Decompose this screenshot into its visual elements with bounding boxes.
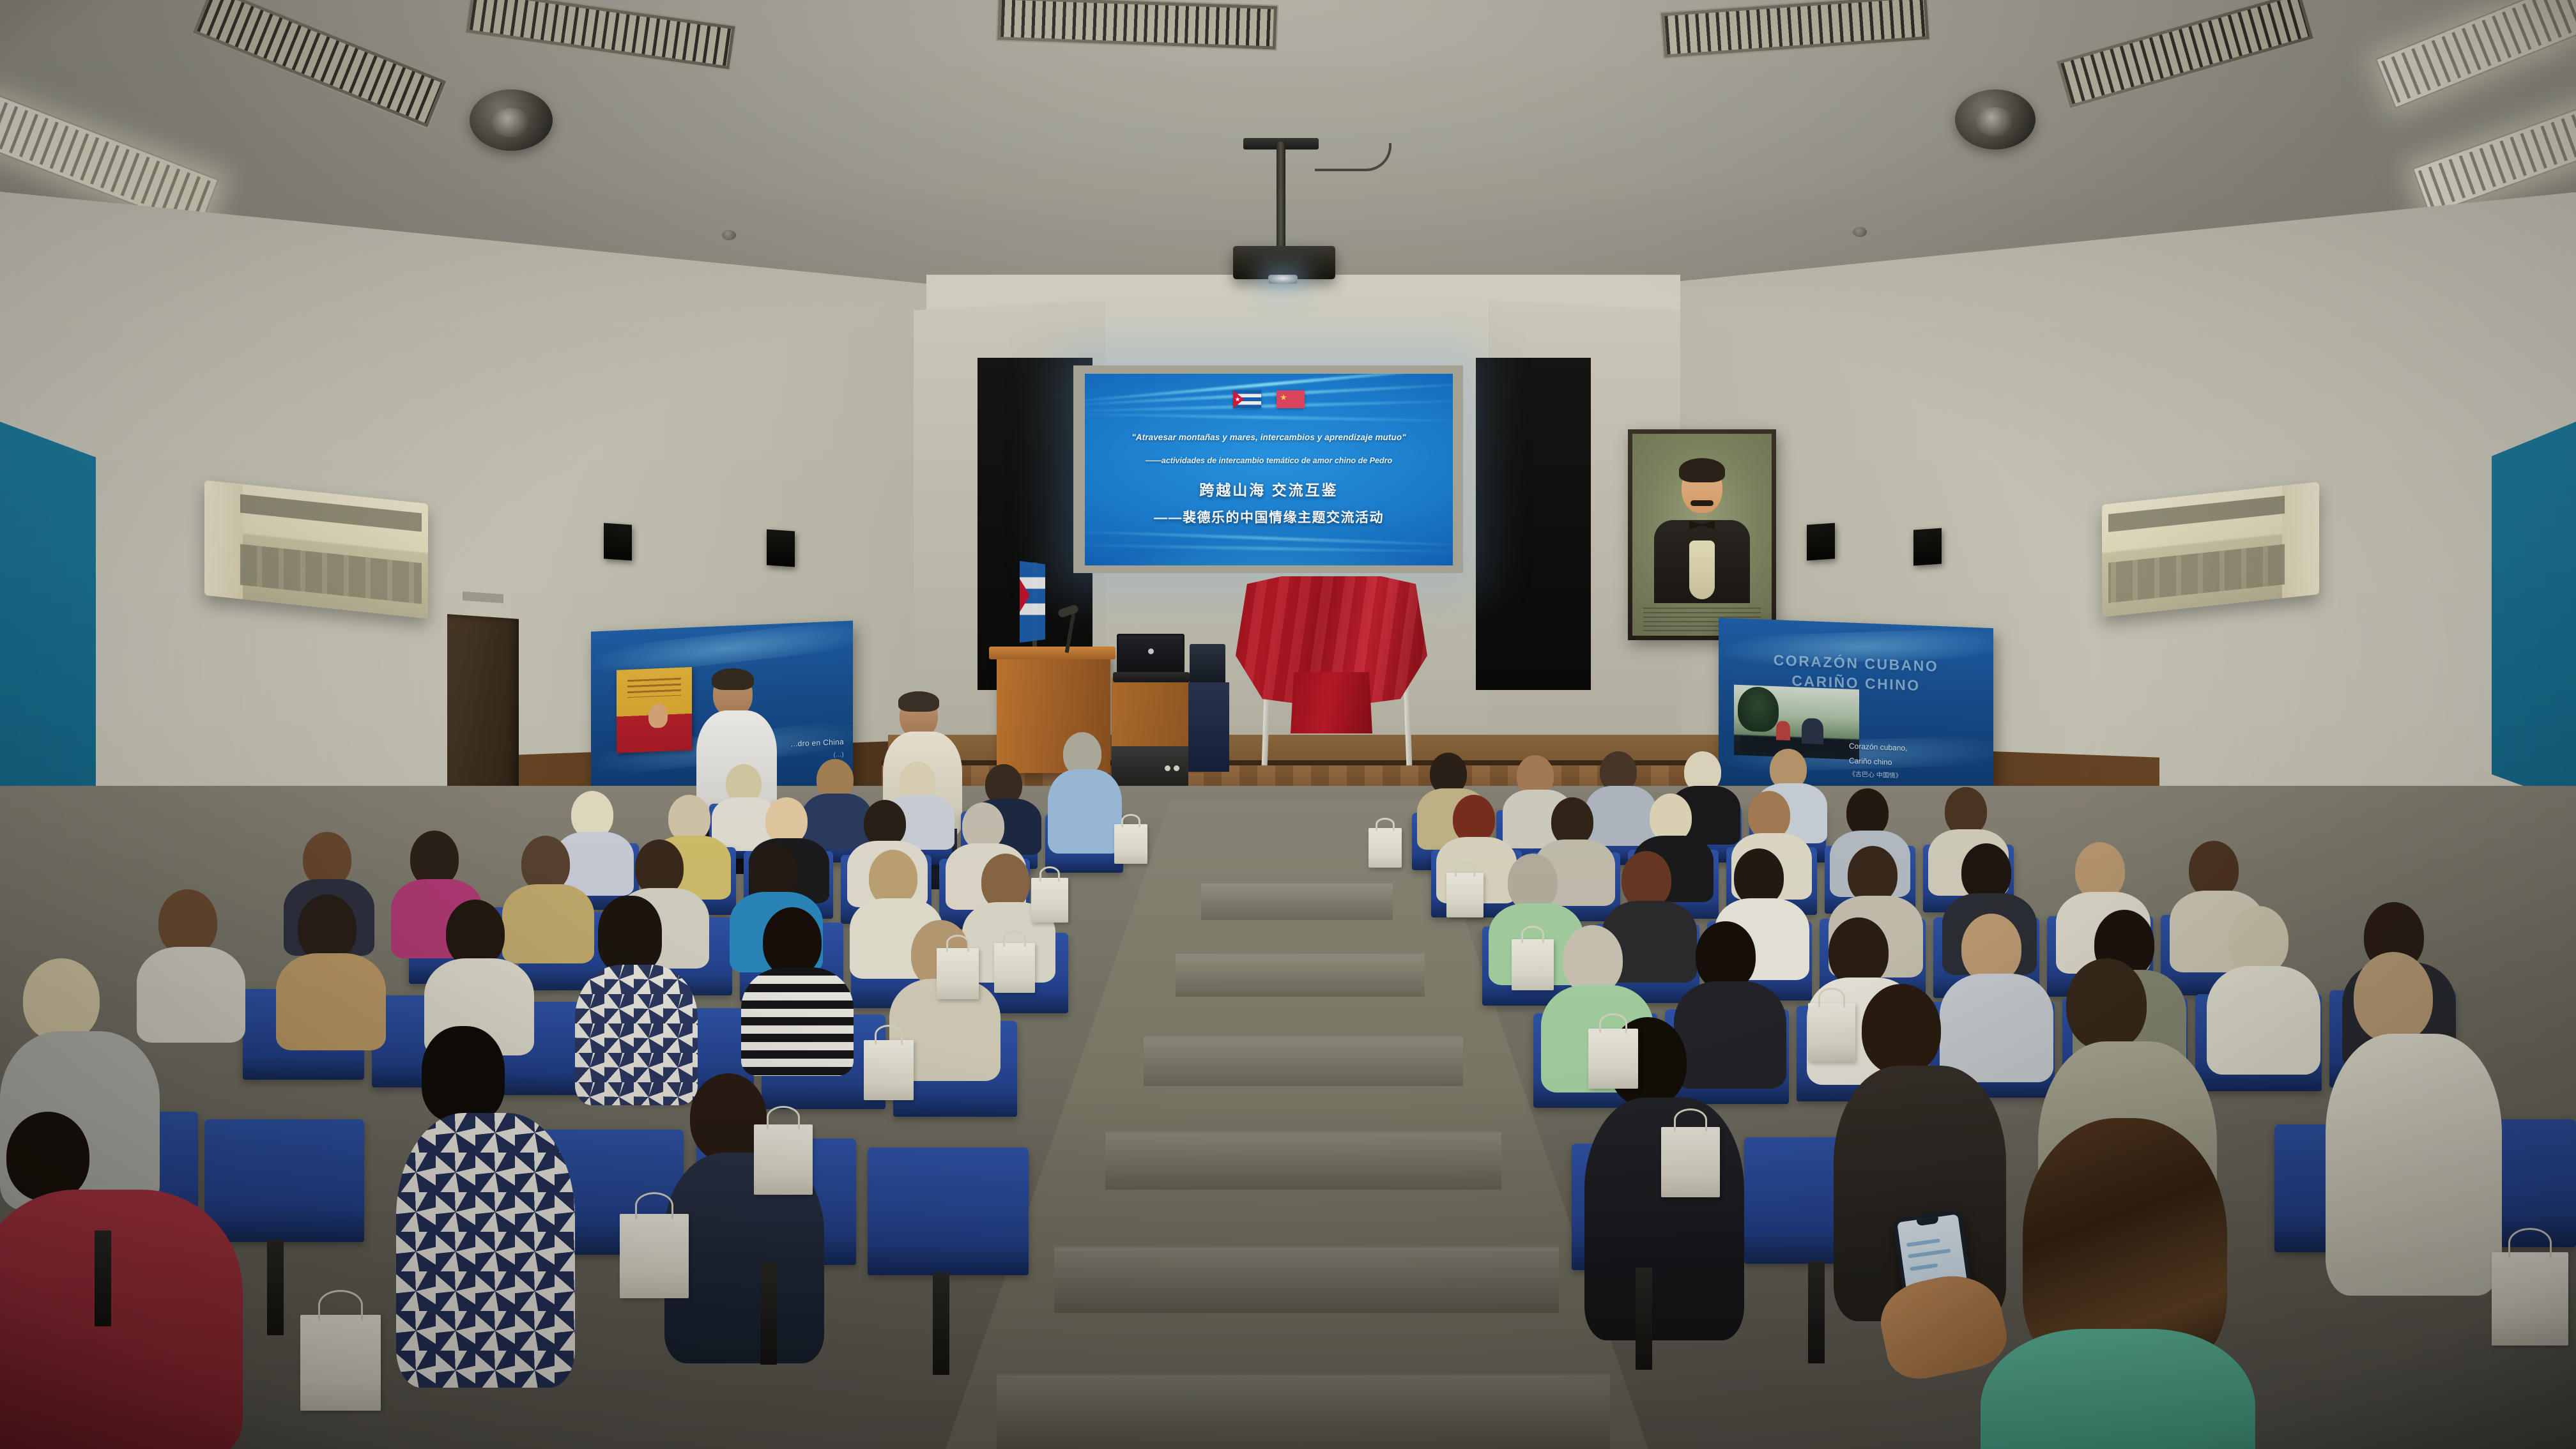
wall-accent-panel-left	[0, 422, 96, 818]
wall-speaker	[604, 523, 632, 560]
auditorium-seat[interactable]	[868, 1147, 1029, 1275]
gift-tote-bag[interactable]	[620, 1214, 689, 1298]
gift-tote-bag[interactable]	[1368, 828, 1402, 868]
wall-accent-panel-right	[2492, 422, 2576, 805]
presentation-laptop[interactable]	[1117, 634, 1184, 673]
seat-leg	[1636, 1268, 1652, 1370]
sprinkler-head-icon	[1853, 227, 1867, 237]
wall-speaker	[1807, 523, 1835, 560]
screen-chinese-title: 跨越山海 交流互鉴	[1099, 478, 1439, 500]
drape-skirt	[1291, 672, 1372, 733]
side-exit-door[interactable]	[447, 614, 519, 811]
auditorium-photo: "Atravesar montañas y mares, intercambio…	[0, 0, 2576, 1449]
portrait-frame	[1628, 429, 1776, 640]
aisle-step	[1054, 1246, 1559, 1313]
aisle-step	[1176, 952, 1425, 997]
auditorium-seat[interactable]	[204, 1119, 364, 1242]
screen-spanish-subtitle: ——actividades de intercambio temático de…	[1099, 456, 1439, 465]
aisle-step	[1201, 882, 1393, 920]
gift-tote-bag[interactable]	[1031, 878, 1068, 923]
seat-leg	[1808, 1261, 1825, 1363]
air-conditioner-unit	[2102, 482, 2319, 617]
screen-text-block: "Atravesar montañas y mares, intercambio…	[1085, 433, 1453, 526]
gift-tote-bag[interactable]	[994, 943, 1035, 993]
air-conditioner-unit	[204, 480, 428, 619]
confidence-monitor	[1190, 644, 1225, 684]
cuba-flag-icon	[1233, 390, 1261, 408]
banner-right-captions: Corazón cubano, Cariño chino 《古巴心 中国情》	[1849, 739, 1983, 786]
aisle-step	[997, 1374, 1610, 1449]
gift-tote-bag[interactable]	[937, 948, 979, 999]
seat-leg	[760, 1262, 777, 1365]
gift-tote-bag[interactable]	[2492, 1252, 2568, 1345]
jose-marti-portrait	[1632, 434, 1772, 636]
gift-tote-bag[interactable]	[1446, 873, 1483, 917]
screen-spanish-quote: "Atravesar montañas y mares, intercambio…	[1099, 433, 1439, 442]
stage-chair	[1188, 682, 1229, 772]
screen-chinese-subtitle: ——裴德乐的中国情缘主题交流活动	[1099, 507, 1439, 526]
sprinkler-head-icon	[722, 230, 736, 240]
gift-tote-bag[interactable]	[1808, 1003, 1855, 1062]
projector-lens-icon	[1268, 275, 1298, 284]
seat-leg	[933, 1273, 949, 1375]
book-cover-photo	[617, 667, 692, 753]
gift-tote-bag[interactable]	[1114, 824, 1147, 864]
podium-top	[989, 647, 1115, 659]
seat-leg	[267, 1239, 284, 1335]
seat-leg	[95, 1230, 111, 1326]
gift-tote-bag[interactable]	[754, 1124, 813, 1195]
projection-screen: "Atravesar montañas y mares, intercambio…	[1085, 374, 1453, 565]
ceiling-dome-speaker	[1955, 89, 2035, 149]
wall-speaker	[1913, 528, 1942, 565]
screen-flag-row	[1085, 390, 1453, 408]
gift-tote-bag[interactable]	[1588, 1029, 1638, 1089]
stage-drape-right	[1476, 358, 1591, 690]
china-flag-icon	[1276, 390, 1305, 408]
gift-tote-bag[interactable]	[1512, 939, 1554, 990]
banner-right-photo	[1734, 685, 1859, 760]
ceiling-dome-speaker	[470, 89, 553, 151]
cuba-flag-on-pole	[1020, 561, 1045, 643]
projector-pole	[1276, 142, 1285, 250]
aisle-step	[1144, 1035, 1463, 1086]
gift-tote-bag[interactable]	[300, 1315, 381, 1411]
wall-speaker	[767, 529, 795, 567]
gift-tote-bag[interactable]	[1661, 1127, 1720, 1197]
projector-cable	[1315, 143, 1391, 171]
gift-tote-bag[interactable]	[864, 1040, 914, 1100]
laptop-base	[1113, 672, 1190, 682]
aisle-step	[1105, 1131, 1501, 1190]
